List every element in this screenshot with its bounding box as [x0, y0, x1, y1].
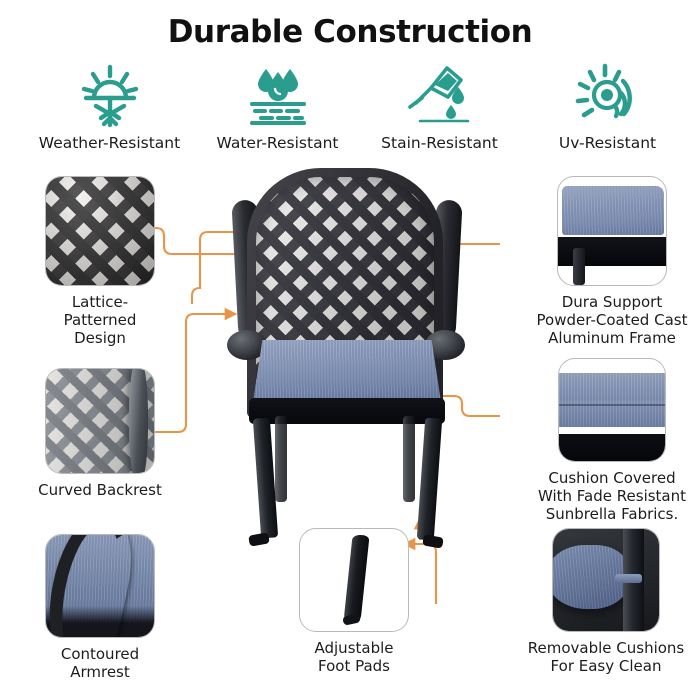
callout-lattice[interactable]: Lattice- Patterned Design	[38, 176, 162, 347]
callout-contoured-armrest-thumbnail	[45, 534, 155, 638]
chair-leg-back-left	[275, 416, 287, 502]
callout-sunbrella-thumbnail	[558, 358, 666, 462]
chair-leg-back-right	[403, 416, 415, 502]
chair-foot-left	[248, 532, 270, 546]
chair-foot-right	[422, 534, 444, 548]
sun-uv-rays-icon	[520, 60, 695, 132]
water-droplets-on-fabric-icon	[190, 60, 365, 132]
callout-curved-backrest[interactable]: Curved Backrest	[24, 368, 176, 499]
infographic-canvas: Durable Construction	[0, 0, 700, 700]
callout-lattice-caption: Lattice- Patterned Design	[38, 293, 162, 347]
feature-uv-resistant: Uv-Resistant	[520, 60, 695, 152]
callout-removable-cushions-thumbnail	[552, 528, 660, 632]
callout-curved-backrest-caption: Curved Backrest	[24, 481, 176, 499]
callout-adjustable-foot-pads[interactable]: Adjustable Foot Pads	[292, 528, 416, 675]
callout-dura-support-caption: Dura Support Powder-Coated Cast Aluminum…	[528, 293, 696, 347]
callout-lattice-thumbnail	[45, 176, 155, 286]
feature-weather-resistant: Weather-Resistant	[22, 60, 197, 152]
spilling-wine-glass-icon	[352, 60, 527, 132]
callout-sunbrella-cushion[interactable]: Cushion Covered With Fade Resistant Sunb…	[526, 358, 698, 523]
chair-seat-cushion	[253, 340, 441, 402]
product-chair-image	[205, 168, 485, 558]
callout-dura-support-thumbnail	[557, 176, 667, 286]
feature-label: Stain-Resistant	[352, 134, 527, 152]
callout-contoured-armrest[interactable]: Contoured Armrest	[38, 534, 162, 681]
feature-label: Water-Resistant	[190, 134, 365, 152]
callout-removable-cushions[interactable]: Removable Cushions For Easy Clean	[514, 528, 698, 675]
feature-label: Weather-Resistant	[22, 134, 197, 152]
chair-leg-front-right	[417, 418, 442, 541]
feature-water-resistant: Water-Resistant	[190, 60, 365, 152]
callout-foot-pads-caption: Adjustable Foot Pads	[292, 639, 416, 675]
feature-label: Uv-Resistant	[520, 134, 695, 152]
page-title: Durable Construction	[0, 14, 700, 50]
callout-dura-support-frame[interactable]: Dura Support Powder-Coated Cast Aluminum…	[528, 176, 696, 347]
callout-foot-pads-thumbnail	[299, 528, 409, 632]
callout-sunbrella-caption: Cushion Covered With Fade Resistant Sunb…	[526, 469, 698, 523]
callout-removable-cushions-caption: Removable Cushions For Easy Clean	[514, 639, 698, 675]
callout-contoured-armrest-caption: Contoured Armrest	[38, 645, 162, 681]
feature-stain-resistant: Stain-Resistant	[352, 60, 527, 152]
callout-curved-backrest-thumbnail	[45, 368, 155, 474]
sun-snowflake-icon	[22, 60, 197, 132]
